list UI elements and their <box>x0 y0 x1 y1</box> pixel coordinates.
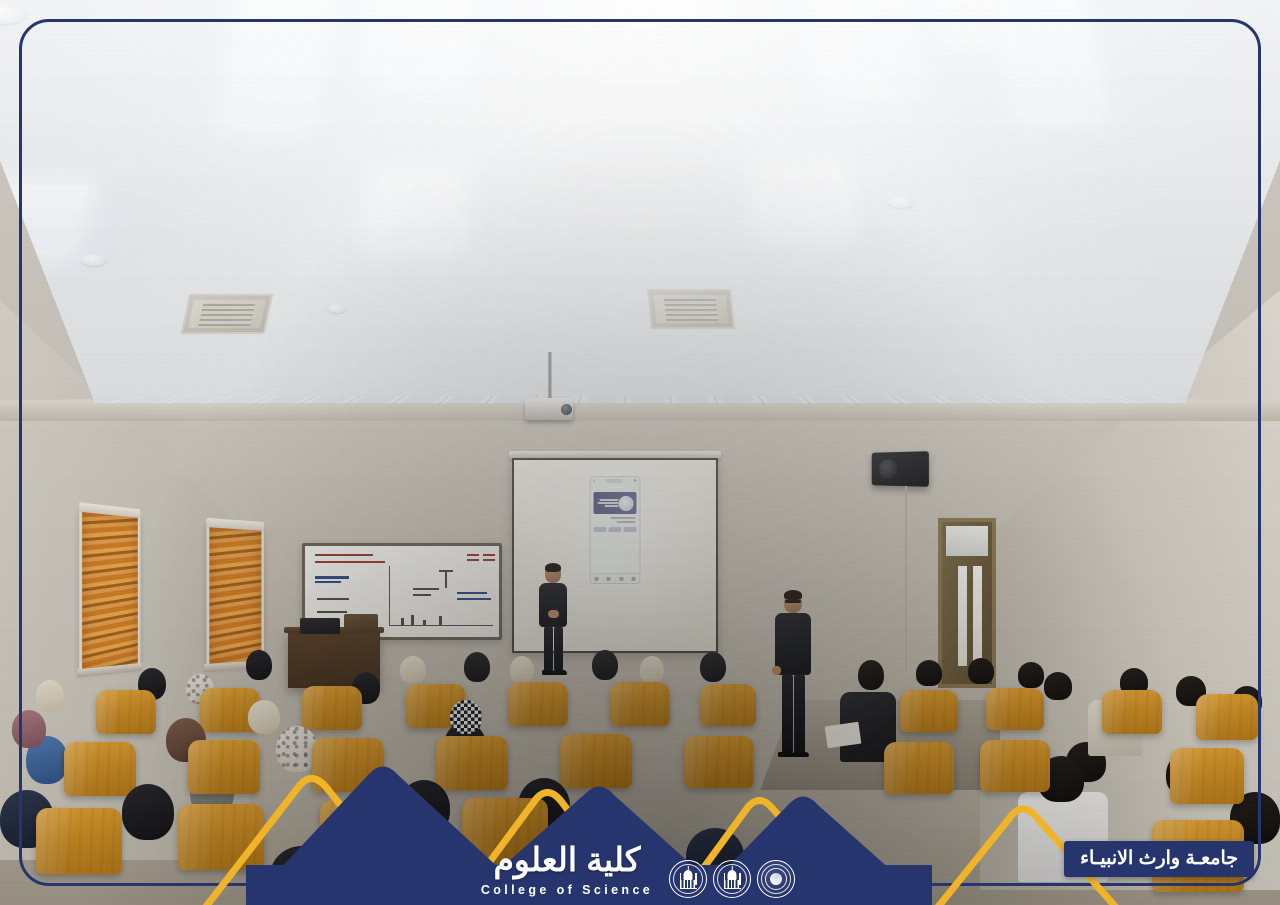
smoke-detector <box>328 304 346 313</box>
led-panel <box>371 0 467 82</box>
smoke-detector <box>568 0 612 12</box>
app-hero-header <box>594 492 637 514</box>
wall-speaker <box>872 451 929 487</box>
university-name-ribbon: جامعـة وارث الانبيـاء <box>1064 841 1254 877</box>
nav-icon <box>595 577 599 581</box>
attendee <box>510 656 534 684</box>
smoke-detector <box>888 196 914 208</box>
smoke-detector <box>0 4 27 24</box>
presenter-leg <box>554 626 563 672</box>
hall-seat <box>96 690 156 734</box>
branding-banner: كلية العلوم College of Science <box>0 745 1280 905</box>
app-button <box>609 527 622 532</box>
presenter-suit-jacket <box>539 583 567 627</box>
led-panel <box>993 0 1097 114</box>
led-panel <box>372 176 460 242</box>
attendee <box>700 652 726 682</box>
attendee <box>592 650 618 680</box>
hall-seat <box>1102 690 1162 734</box>
nav-icon <box>631 577 635 581</box>
status-pill <box>606 479 623 483</box>
hall-seat <box>900 690 958 732</box>
attendee <box>450 700 482 734</box>
presenter2-glasses <box>785 600 801 603</box>
attendee <box>968 658 994 684</box>
hall-seat <box>302 686 362 730</box>
nav-icon <box>607 577 611 581</box>
app-top-bar <box>591 484 640 491</box>
app-action-buttons <box>594 527 637 532</box>
nav-icon <box>619 577 623 581</box>
app-status-bar: ▮ ▮▮ <box>591 477 640 484</box>
ac-ceiling-vent <box>181 294 274 334</box>
projector-lens <box>561 404 572 415</box>
attendee <box>1044 672 1072 700</box>
projector-mount-rod <box>548 352 552 402</box>
ceiling-tile-grid <box>0 396 1280 404</box>
led-panel <box>0 186 89 250</box>
attendee <box>640 656 664 684</box>
app-bottom-nav <box>591 573 640 583</box>
event-photo-card: ▮ ▮▮ <box>0 0 1280 905</box>
presenter2-suit-jacket <box>775 613 811 675</box>
hall-seat <box>700 684 756 726</box>
app-subtitle-lines <box>595 517 636 523</box>
window-left-near <box>206 524 264 668</box>
window-left-far <box>79 509 140 674</box>
app-button <box>594 527 607 532</box>
attendee <box>916 660 942 686</box>
speaker-cable <box>905 486 907 671</box>
attendee <box>464 652 490 682</box>
presenter-at-screen <box>536 564 570 676</box>
led-panel <box>623 0 693 4</box>
door-glass-panel <box>973 566 982 666</box>
presenter-leg <box>544 626 553 672</box>
smoke-detector <box>81 254 107 266</box>
presenter-in-aisle <box>773 592 813 762</box>
hall-seat <box>610 682 670 726</box>
attendee <box>1018 662 1044 688</box>
presenter2-leg <box>794 674 805 754</box>
attendee <box>12 710 46 748</box>
hall-seat <box>508 682 568 726</box>
attendee <box>858 660 884 690</box>
app-hero-text <box>597 499 619 507</box>
led-panel <box>228 0 332 124</box>
app-button <box>624 527 637 532</box>
presenter2-hand <box>772 666 781 675</box>
banner-navy-shape <box>0 745 1280 905</box>
projected-app-mockup: ▮ ▮▮ <box>590 476 641 584</box>
hall-seat <box>986 688 1044 730</box>
suspended-ceiling <box>0 0 1280 404</box>
presenter2-hair <box>784 590 802 600</box>
app-logo-icon <box>619 496 634 511</box>
laptop-brown <box>344 614 378 632</box>
presenter-hair <box>545 563 561 572</box>
ac-ceiling-vent <box>647 289 735 329</box>
laptop-dark <box>300 618 340 634</box>
attendee <box>36 680 64 712</box>
presenter-hands <box>548 610 559 618</box>
door-glass-panel <box>958 566 967 666</box>
hall-seat <box>1196 694 1258 740</box>
led-panel <box>814 0 915 92</box>
attendee <box>246 650 272 680</box>
led-panel <box>758 169 845 231</box>
presenter-shoe <box>554 670 567 675</box>
led-panel <box>936 0 1006 36</box>
presenter2-leg <box>782 674 793 754</box>
attendee <box>248 700 280 734</box>
door-transom-glass <box>946 526 988 556</box>
attendee <box>400 656 426 684</box>
